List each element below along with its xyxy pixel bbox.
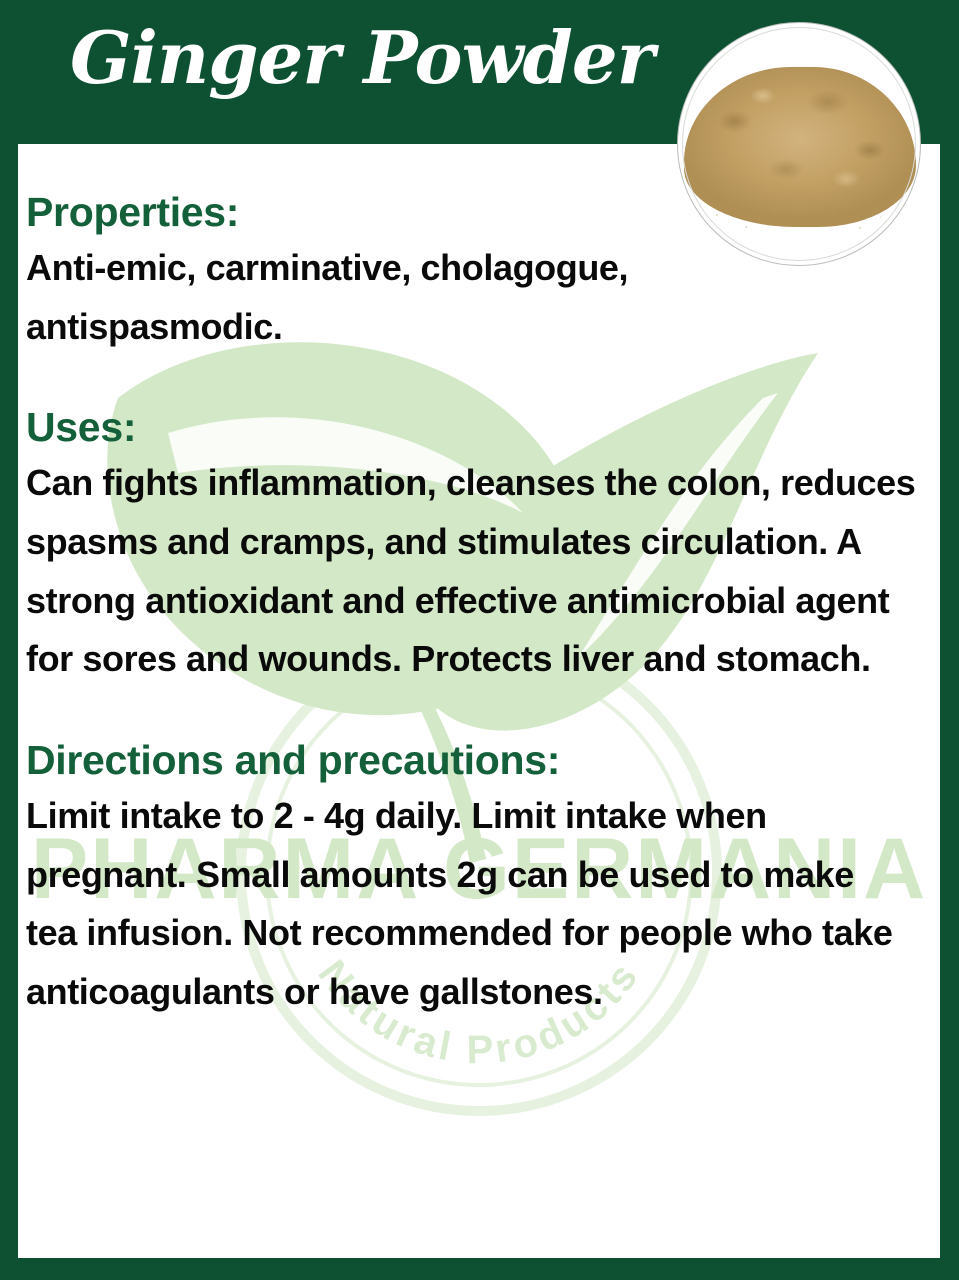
section-body-uses: Can fights inflammation, cleanses the co…: [26, 454, 926, 689]
section-body-properties: Anti-emic, carminative, cholagogue, anti…: [26, 239, 786, 356]
ginger-powder-icon: [684, 67, 916, 227]
section-directions: Directions and precautions: Limit intake…: [26, 735, 926, 1022]
section-heading-uses: Uses:: [26, 402, 926, 452]
content-card: EST 1988 Natural Products PHARMA GERMANI…: [18, 143, 940, 1258]
spacer-uses: [26, 689, 926, 735]
page-title: Ginger Powder: [70, 22, 654, 94]
powder-scatter-decoration: [696, 199, 906, 239]
poster-content: Properties: Anti-emic, carminative, chol…: [26, 143, 926, 1022]
section-uses: Uses: Can fights inflammation, cleanses …: [26, 402, 926, 689]
section-heading-directions: Directions and precautions:: [26, 735, 926, 785]
section-body-directions: Limit intake to 2 - 4g daily. Limit inta…: [26, 787, 906, 1022]
spacer-properties: [26, 356, 926, 402]
product-image: [677, 22, 921, 266]
product-info-poster: Ginger Powder: [0, 0, 959, 1280]
